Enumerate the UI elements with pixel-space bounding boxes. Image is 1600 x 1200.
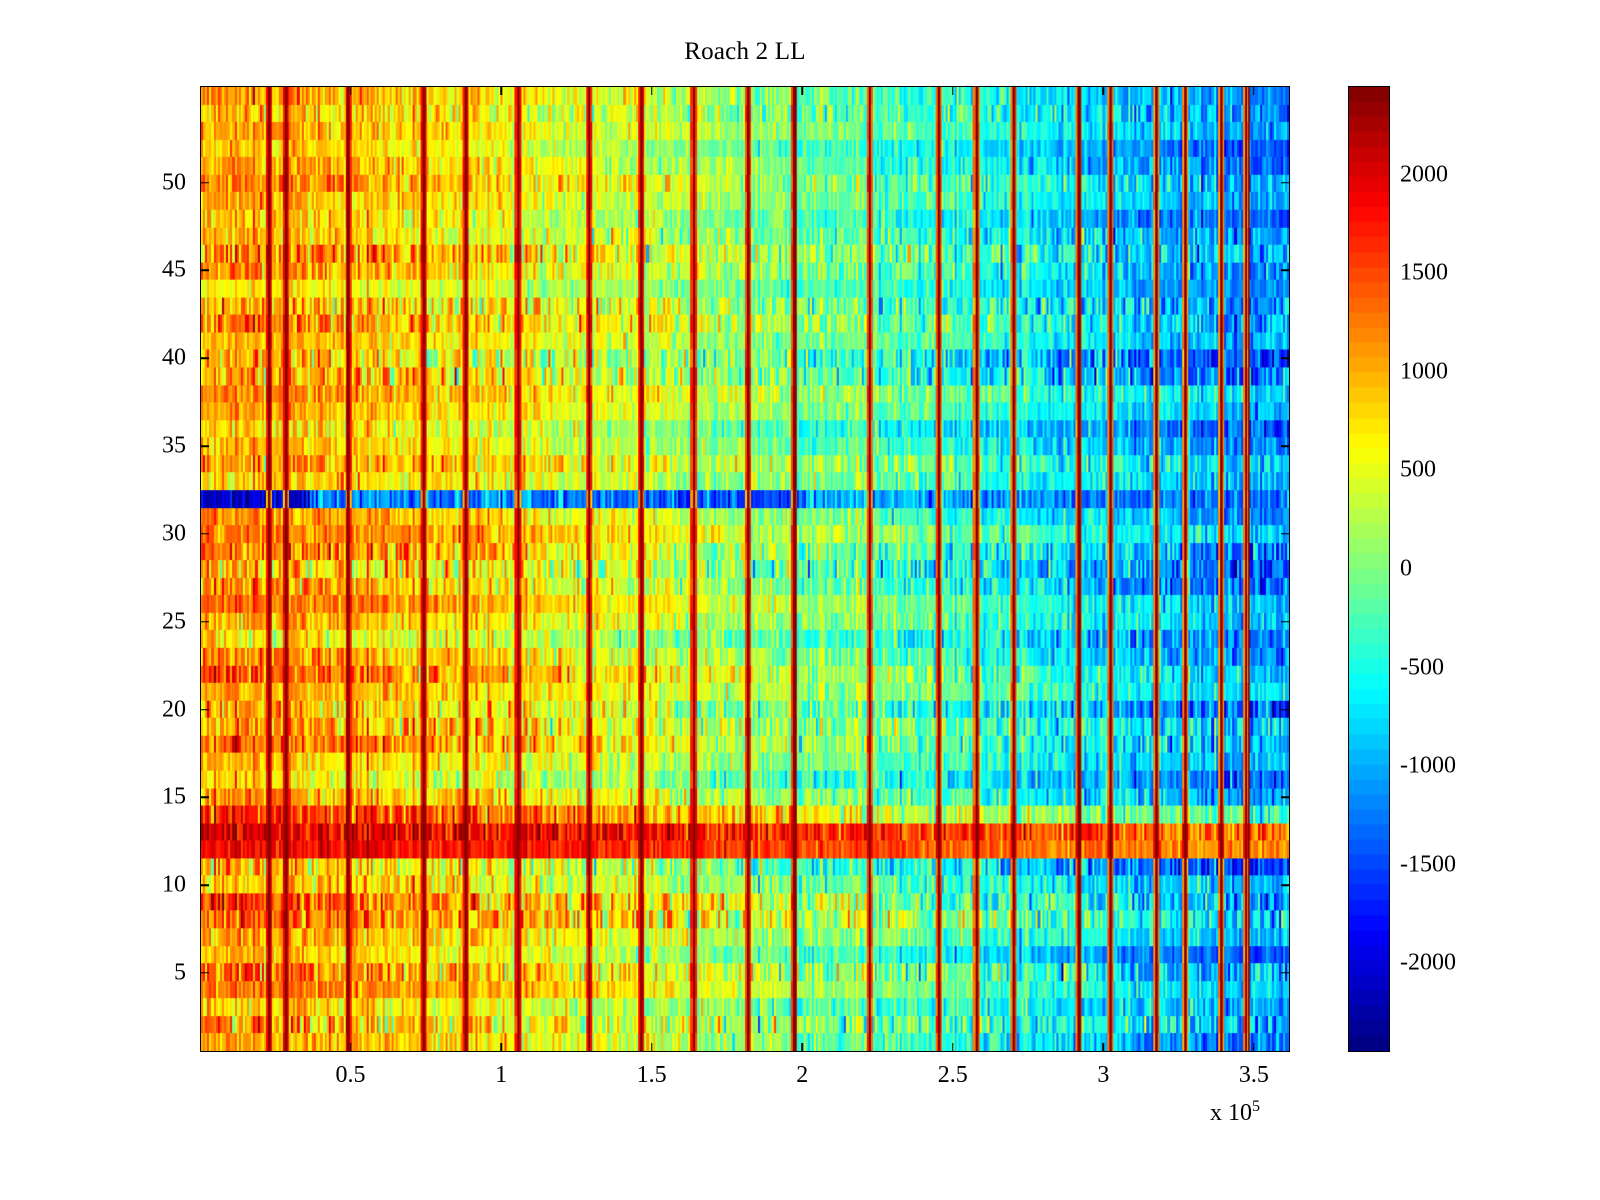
x-tick-mark: [1253, 1043, 1255, 1052]
y-tick-label: 20: [126, 696, 186, 723]
y-tick-mark-right: [1281, 709, 1290, 711]
colorbar-canvas: [1349, 87, 1389, 1051]
x-axis-exponent-power: 5: [1252, 1098, 1260, 1115]
y-tick-mark-right: [1281, 445, 1290, 447]
colorbar: [1348, 86, 1390, 1052]
colorbar-tick-label: -1000: [1400, 753, 1456, 780]
y-tick-mark: [200, 270, 209, 272]
y-tick-label: 25: [126, 608, 186, 635]
y-tick-mark: [200, 972, 209, 974]
y-tick-mark-right: [1281, 533, 1290, 535]
y-tick-mark-right: [1281, 182, 1290, 184]
y-tick-mark-right: [1281, 884, 1290, 886]
x-tick-mark-top: [1103, 86, 1105, 95]
y-tick-mark: [200, 445, 209, 447]
x-tick-label: 2.5: [908, 1062, 998, 1089]
y-tick-mark: [200, 797, 209, 799]
colorbar-tick-label: 2000: [1400, 161, 1448, 188]
y-tick-label: 45: [126, 257, 186, 284]
colorbar-tick-label: 0: [1400, 556, 1412, 583]
x-tick-mark: [801, 1043, 803, 1052]
x-axis-exponent-base: x 10: [1210, 1100, 1252, 1126]
y-tick-label: 30: [126, 520, 186, 547]
colorbar-tick-label: -1500: [1400, 851, 1456, 878]
y-tick-mark-right: [1281, 972, 1290, 974]
y-tick-label: 40: [126, 345, 186, 372]
x-tick-mark-top: [1253, 86, 1255, 95]
y-tick-mark: [200, 182, 209, 184]
x-tick-label: 1.5: [607, 1062, 697, 1089]
y-tick-mark: [200, 709, 209, 711]
colorbar-tick-label: 1500: [1400, 260, 1448, 287]
y-tick-label: 15: [126, 784, 186, 811]
y-tick-mark-right: [1281, 621, 1290, 623]
x-tick-mark-top: [952, 86, 954, 95]
y-tick-label: 50: [126, 169, 186, 196]
y-tick-mark: [200, 533, 209, 535]
chart-title: Roach 2 LL: [200, 38, 1290, 66]
colorbar-tick-label: 500: [1400, 457, 1436, 484]
y-tick-mark-right: [1281, 797, 1290, 799]
x-tick-mark-top: [350, 86, 352, 95]
colorbar-tick-label: -2000: [1400, 950, 1456, 977]
x-tick-label: 1: [456, 1062, 546, 1089]
y-tick-label: 35: [126, 433, 186, 460]
x-tick-label: 2: [757, 1062, 847, 1089]
x-axis-exponent: x 105: [1210, 1098, 1260, 1127]
heatmap-canvas: [201, 87, 1289, 1051]
y-tick-mark: [200, 357, 209, 359]
y-tick-mark: [200, 884, 209, 886]
y-tick-mark-right: [1281, 357, 1290, 359]
x-tick-label: 3: [1058, 1062, 1148, 1089]
x-tick-mark-top: [500, 86, 502, 95]
x-tick-mark-top: [651, 86, 653, 95]
heatmap-axes: [200, 86, 1290, 1052]
x-tick-label: 3.5: [1209, 1062, 1299, 1089]
y-tick-mark-right: [1281, 270, 1290, 272]
x-tick-mark: [350, 1043, 352, 1052]
x-tick-mark: [952, 1043, 954, 1052]
x-tick-mark-top: [801, 86, 803, 95]
colorbar-tick-label: -500: [1400, 654, 1444, 681]
x-tick-mark: [1103, 1043, 1105, 1052]
y-tick-label: 10: [126, 872, 186, 899]
x-tick-mark: [651, 1043, 653, 1052]
y-tick-mark: [200, 621, 209, 623]
x-tick-label: 0.5: [306, 1062, 396, 1089]
x-tick-mark: [500, 1043, 502, 1052]
y-tick-label: 5: [126, 959, 186, 986]
figure-root: Roach 2 LL 0.511.522.533.551015202530354…: [0, 0, 1600, 1200]
colorbar-tick-label: 1000: [1400, 358, 1448, 385]
